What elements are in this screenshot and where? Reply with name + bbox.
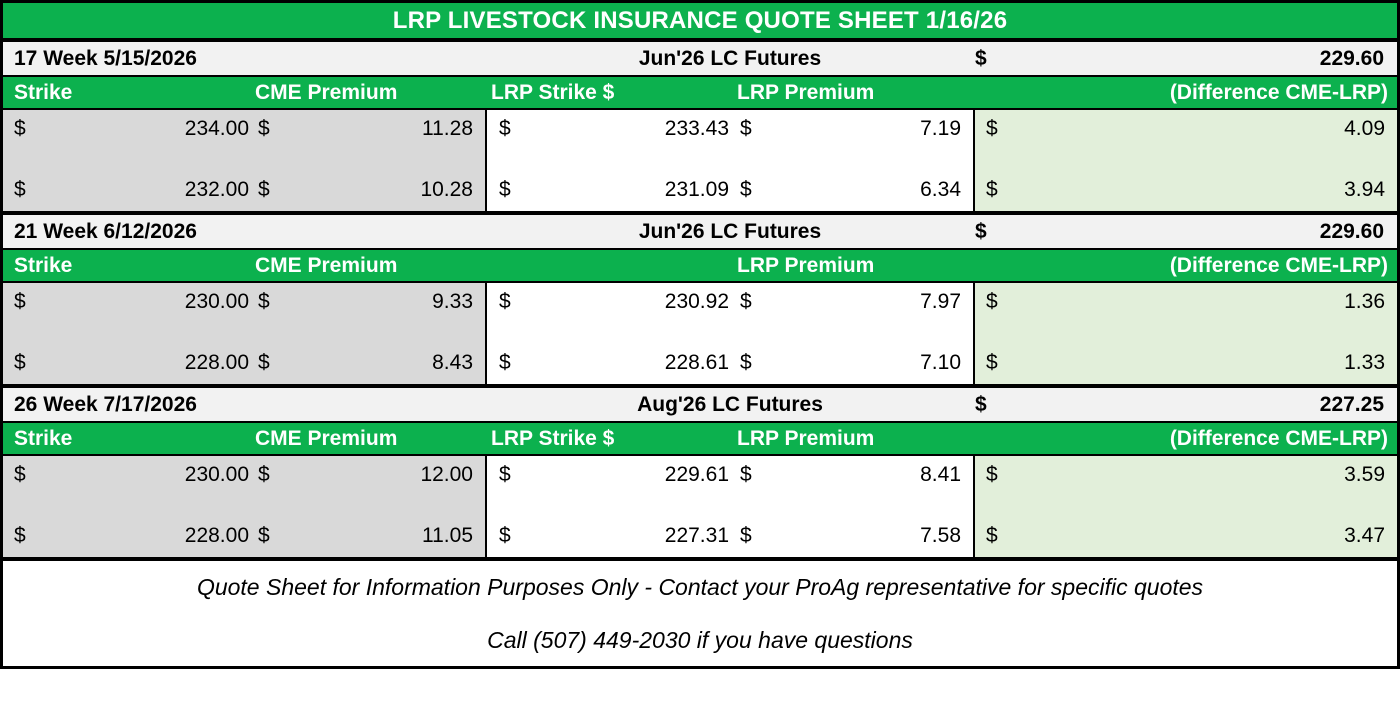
currency-symbol: $ — [258, 463, 292, 487]
table-row: $ 230.92 $ 7.97 — [487, 287, 973, 317]
section-data-block: $ 234.00 $ 11.28 $ 232.00 $ 10.28 — [0, 110, 1400, 213]
lrp-strike-cell: $ 229.61 — [487, 463, 737, 487]
lrp-premium-cell: $ 6.34 — [737, 178, 973, 202]
lrp-premium-value: 8.41 — [774, 463, 961, 487]
cme-premium-cell: $ 11.28 — [255, 117, 485, 141]
lrp-premium-value: 7.97 — [774, 290, 961, 314]
table-row: $ 233.43 $ 7.19 — [487, 114, 973, 144]
lrp-strike-cell: $ 227.31 — [487, 524, 737, 548]
currency-symbol: $ — [258, 351, 292, 375]
lrp-premium-cell: $ 7.10 — [737, 351, 973, 375]
lrp-group: $ 233.43 $ 7.19 $ 231.09 $ 6.34 — [487, 110, 975, 211]
lrp-strike-value: 233.43 — [533, 117, 729, 141]
table-row: $ 228.00 $ 8.43 — [3, 348, 485, 378]
column-header-row: Strike CME Premium LRP Strike $ LRP Prem… — [0, 77, 1400, 110]
quote-sheet: LRP LIVESTOCK INSURANCE QUOTE SHEET 1/16… — [0, 0, 1400, 713]
column-header-cme-premium: CME Premium — [255, 427, 487, 451]
difference-value: 4.09 — [1020, 117, 1385, 141]
column-header-lrp-premium: LRP Premium — [737, 427, 985, 451]
strike-cme-group: $ 234.00 $ 11.28 $ 232.00 $ 10.28 — [3, 110, 487, 211]
difference-value: 3.47 — [1020, 524, 1385, 548]
table-row: $ 229.61 $ 8.41 — [487, 460, 973, 490]
currency-symbol: $ — [740, 178, 774, 202]
strike-value: 228.00 — [48, 351, 249, 375]
currency-symbol: $ — [499, 178, 533, 202]
cme-premium-value: 9.33 — [292, 290, 473, 314]
strike-value: 228.00 — [48, 524, 249, 548]
currency-symbol: $ — [499, 117, 533, 141]
section-futures-price: 227.25 — [1015, 393, 1397, 417]
cme-premium-cell: $ 8.43 — [255, 351, 485, 375]
column-header-lrp-premium: LRP Premium — [737, 254, 985, 278]
table-row: $ 232.00 $ 10.28 — [3, 175, 485, 205]
difference-group: $ 4.09 $ 3.94 — [975, 110, 1397, 211]
table-row: $ 1.36 — [975, 287, 1397, 317]
difference-cell: $ 1.33 — [975, 351, 1397, 375]
cme-premium-value: 8.43 — [292, 351, 473, 375]
lrp-strike-value: 229.61 — [533, 463, 729, 487]
strike-value: 232.00 — [48, 178, 249, 202]
section-futures-currency-symbol: $ — [975, 220, 1015, 244]
table-row: $ 4.09 — [975, 114, 1397, 144]
lrp-premium-value: 7.58 — [774, 524, 961, 548]
difference-cell: $ 4.09 — [975, 117, 1397, 141]
currency-symbol: $ — [986, 290, 1020, 314]
lrp-premium-cell: $ 7.19 — [737, 117, 973, 141]
section-futures-currency-symbol: $ — [975, 47, 1015, 71]
strike-cell: $ 230.00 — [3, 290, 255, 314]
cme-premium-value: 11.28 — [292, 117, 473, 141]
lrp-strike-value: 227.31 — [533, 524, 729, 548]
cme-premium-value: 11.05 — [292, 524, 473, 548]
lrp-premium-cell: $ 7.58 — [737, 524, 973, 548]
page-title: LRP LIVESTOCK INSURANCE QUOTE SHEET 1/16… — [393, 7, 1008, 35]
lrp-strike-value: 230.92 — [533, 290, 729, 314]
table-row: $ 230.00 $ 9.33 — [3, 287, 485, 317]
lrp-strike-cell: $ 230.92 — [487, 290, 737, 314]
section-futures-contract: Aug'26 LC Futures — [485, 393, 975, 417]
currency-symbol: $ — [258, 290, 292, 314]
column-header-lrp-premium: LRP Premium — [737, 81, 985, 105]
column-header-row: Strike CME Premium LRP Strike $ LRP Prem… — [0, 423, 1400, 456]
lrp-premium-cell: $ 8.41 — [737, 463, 973, 487]
cme-premium-cell: $ 11.05 — [255, 524, 485, 548]
currency-symbol: $ — [14, 351, 48, 375]
column-header-difference: (Difference CME-LRP) — [985, 81, 1397, 105]
strike-cell: $ 232.00 — [3, 178, 255, 202]
document-title-banner: LRP LIVESTOCK INSURANCE QUOTE SHEET 1/16… — [0, 0, 1400, 40]
currency-symbol: $ — [14, 178, 48, 202]
currency-symbol: $ — [499, 524, 533, 548]
footer-contact: Call (507) 449-2030 if you have question… — [487, 627, 913, 654]
table-row: $ 3.94 — [975, 175, 1397, 205]
currency-symbol: $ — [740, 290, 774, 314]
column-header-cme-premium: CME Premium — [255, 254, 487, 278]
footer: Quote Sheet for Information Purposes Onl… — [0, 559, 1400, 669]
cme-premium-cell: $ 10.28 — [255, 178, 485, 202]
section-futures-price: 229.60 — [1015, 220, 1397, 244]
currency-symbol: $ — [740, 351, 774, 375]
currency-symbol: $ — [14, 117, 48, 141]
column-header-row: Strike CME Premium LRP Premium (Differen… — [0, 250, 1400, 283]
currency-symbol: $ — [986, 117, 1020, 141]
lrp-group: $ 229.61 $ 8.41 $ 227.31 $ 7.58 — [487, 456, 975, 557]
lrp-premium-value: 6.34 — [774, 178, 961, 202]
lrp-strike-value: 228.61 — [533, 351, 729, 375]
table-row: $ 234.00 $ 11.28 — [3, 114, 485, 144]
column-header-lrp-strike: LRP Strike $ — [487, 427, 737, 451]
table-row: $ 231.09 $ 6.34 — [487, 175, 973, 205]
section-title-row: 26 Week 7/17/2026 Aug'26 LC Futures $ 22… — [0, 386, 1400, 423]
difference-value: 1.33 — [1020, 351, 1385, 375]
strike-value: 230.00 — [48, 290, 249, 314]
currency-symbol: $ — [986, 351, 1020, 375]
column-header-difference: (Difference CME-LRP) — [985, 427, 1397, 451]
section-futures-currency-symbol: $ — [975, 393, 1015, 417]
column-header-cme-premium: CME Premium — [255, 81, 487, 105]
table-row: $ 1.33 — [975, 348, 1397, 378]
table-row: $ 227.31 $ 7.58 — [487, 521, 973, 551]
difference-cell: $ 3.47 — [975, 524, 1397, 548]
section-week-label: 26 Week 7/17/2026 — [3, 393, 485, 417]
currency-symbol: $ — [986, 463, 1020, 487]
section-futures-price: 229.60 — [1015, 47, 1397, 71]
table-row: $ 3.47 — [975, 521, 1397, 551]
strike-cell: $ 228.00 — [3, 351, 255, 375]
strike-cell: $ 234.00 — [3, 117, 255, 141]
table-row: $ 3.59 — [975, 460, 1397, 490]
strike-value: 234.00 — [48, 117, 249, 141]
section-futures-contract: Jun'26 LC Futures — [485, 220, 975, 244]
column-header-strike: Strike — [3, 254, 255, 278]
currency-symbol: $ — [740, 463, 774, 487]
table-row: $ 228.61 $ 7.10 — [487, 348, 973, 378]
currency-symbol: $ — [258, 178, 292, 202]
column-header-lrp-strike: LRP Strike $ — [487, 81, 737, 105]
difference-cell: $ 3.59 — [975, 463, 1397, 487]
difference-value: 3.94 — [1020, 178, 1385, 202]
difference-cell: $ 3.94 — [975, 178, 1397, 202]
currency-symbol: $ — [258, 524, 292, 548]
section-week-label: 21 Week 6/12/2026 — [3, 220, 485, 244]
difference-group: $ 3.59 $ 3.47 — [975, 456, 1397, 557]
difference-value: 3.59 — [1020, 463, 1385, 487]
currency-symbol: $ — [499, 351, 533, 375]
lrp-premium-value: 7.19 — [774, 117, 961, 141]
cme-premium-cell: $ 12.00 — [255, 463, 485, 487]
column-header-strike: Strike — [3, 427, 255, 451]
lrp-group: $ 230.92 $ 7.97 $ 228.61 $ 7.10 — [487, 283, 975, 384]
currency-symbol: $ — [499, 290, 533, 314]
section-title-row: 17 Week 5/15/2026 Jun'26 LC Futures $ 22… — [0, 40, 1400, 77]
currency-symbol: $ — [258, 117, 292, 141]
lrp-strike-cell: $ 231.09 — [487, 178, 737, 202]
currency-symbol: $ — [14, 524, 48, 548]
lrp-strike-value: 231.09 — [533, 178, 729, 202]
column-header-strike: Strike — [3, 81, 255, 105]
lrp-strike-cell: $ 228.61 — [487, 351, 737, 375]
currency-symbol: $ — [986, 178, 1020, 202]
cme-premium-value: 10.28 — [292, 178, 473, 202]
currency-symbol: $ — [740, 524, 774, 548]
currency-symbol: $ — [740, 117, 774, 141]
currency-symbol: $ — [986, 524, 1020, 548]
lrp-strike-cell: $ 233.43 — [487, 117, 737, 141]
difference-value: 1.36 — [1020, 290, 1385, 314]
section-futures-contract: Jun'26 LC Futures — [485, 47, 975, 71]
table-row: $ 230.00 $ 12.00 — [3, 460, 485, 490]
lrp-premium-value: 7.10 — [774, 351, 961, 375]
cme-premium-value: 12.00 — [292, 463, 473, 487]
difference-cell: $ 1.36 — [975, 290, 1397, 314]
cme-premium-cell: $ 9.33 — [255, 290, 485, 314]
section-week-label: 17 Week 5/15/2026 — [3, 47, 485, 71]
currency-symbol: $ — [14, 290, 48, 314]
difference-group: $ 1.36 $ 1.33 — [975, 283, 1397, 384]
strike-cell: $ 228.00 — [3, 524, 255, 548]
currency-symbol: $ — [14, 463, 48, 487]
strike-cell: $ 230.00 — [3, 463, 255, 487]
section-data-block: $ 230.00 $ 9.33 $ 228.00 $ 8.43 — [0, 283, 1400, 386]
lrp-premium-cell: $ 7.97 — [737, 290, 973, 314]
currency-symbol: $ — [499, 463, 533, 487]
strike-value: 230.00 — [48, 463, 249, 487]
table-row: $ 228.00 $ 11.05 — [3, 521, 485, 551]
section-title-row: 21 Week 6/12/2026 Jun'26 LC Futures $ 22… — [0, 213, 1400, 250]
section-data-block: $ 230.00 $ 12.00 $ 228.00 $ 11.05 — [0, 456, 1400, 559]
strike-cme-group: $ 230.00 $ 12.00 $ 228.00 $ 11.05 — [3, 456, 487, 557]
strike-cme-group: $ 230.00 $ 9.33 $ 228.00 $ 8.43 — [3, 283, 487, 384]
column-header-difference: (Difference CME-LRP) — [985, 254, 1397, 278]
footer-disclaimer: Quote Sheet for Information Purposes Onl… — [197, 574, 1203, 601]
